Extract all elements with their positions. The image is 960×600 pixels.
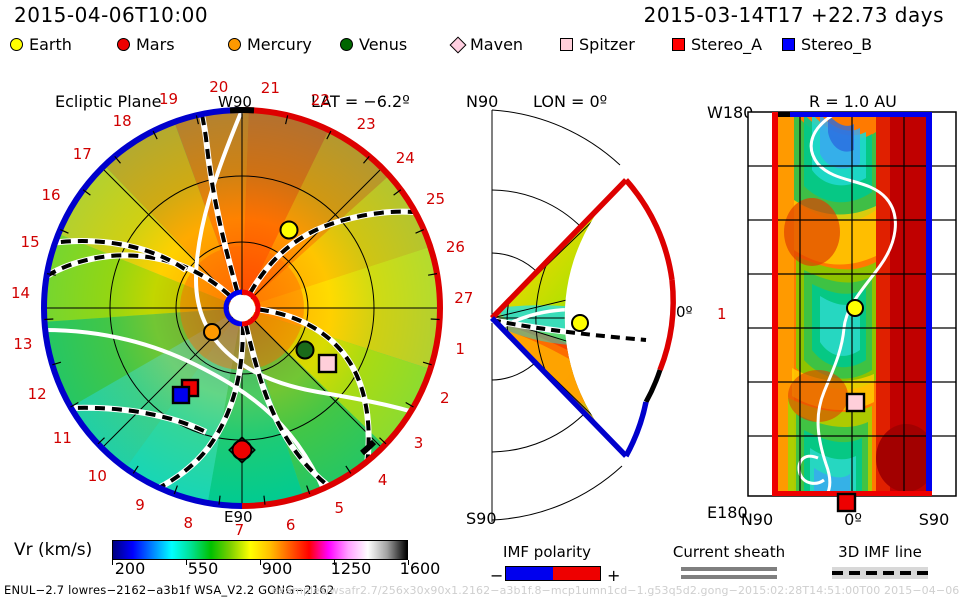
imf-polarity-minus: − <box>490 566 503 585</box>
synoptic-map-plot <box>700 80 960 520</box>
colorbar-tick-label: 900 <box>262 559 293 578</box>
stereo-b-marker <box>173 387 189 403</box>
imf-polarity-plus: + <box>607 566 620 585</box>
carrington-longitude-label: 23 <box>357 115 376 133</box>
sun-marker <box>226 292 258 324</box>
imf-polarity-legend-title: IMF polarity <box>503 543 591 561</box>
imf-polarity-negative <box>506 567 553 580</box>
legend-item-stereo-a: Stereo_A <box>672 35 762 54</box>
current-timestamp: 2015-04-06T10:00 <box>14 3 208 27</box>
carrington-longitude-label: 20 <box>209 78 228 96</box>
run-path-watermark: examples/wsafr2.7/256x30x90x1.2162−a3b1f… <box>272 584 959 597</box>
carrington-longitude-label: 22 <box>311 91 330 109</box>
mars-icon <box>117 38 130 51</box>
legend-label: Stereo_B <box>801 35 872 54</box>
spitzer-icon <box>560 38 573 51</box>
carrington-longitude-label: 9 <box>135 496 145 514</box>
stereo-a-marker-synoptic <box>838 494 855 511</box>
spitzer-marker-synoptic <box>847 394 864 411</box>
colorbar-title: Vr (km/s) <box>14 540 92 560</box>
carrington-longitude-label: 21 <box>261 79 280 97</box>
legend-item-earth: Earth <box>10 35 72 54</box>
maven-icon <box>450 36 467 53</box>
carrington-longitude-label: 19 <box>159 90 178 108</box>
body-legend: Earth Mars Mercury Venus Maven Spitzer S… <box>0 34 960 60</box>
carrington-longitude-label: 12 <box>28 385 47 403</box>
meridional-cut-plot <box>450 80 690 530</box>
carrington-longitude-label: 10 <box>88 467 107 485</box>
carrington-longitude-label: 8 <box>184 514 194 532</box>
legend-item-mars: Mars <box>117 35 175 54</box>
legend-label: Mercury <box>247 35 312 54</box>
colorbar-tick-label: 1250 <box>331 559 372 578</box>
carrington-longitude-label: 3 <box>414 434 424 452</box>
colorbar <box>112 540 408 560</box>
carrington-longitude-label: 6 <box>286 516 296 534</box>
legend-label: Earth <box>29 35 72 54</box>
colorbar-tick-label: 200 <box>115 559 146 578</box>
legend-label: Spitzer <box>579 35 635 54</box>
imf-line-swatch <box>832 567 928 579</box>
carrington-longitude-label: 15 <box>21 233 40 251</box>
current-sheath-swatch <box>681 567 777 580</box>
carrington-longitude-label: 5 <box>335 499 345 517</box>
carrington-longitude-label: 13 <box>13 335 32 353</box>
venus-marker <box>297 342 314 359</box>
carrington-longitude-label: 24 <box>396 149 415 167</box>
imf-polarity-positive <box>553 567 600 580</box>
stereo-a-icon <box>672 38 685 51</box>
imf-line-legend-title: 3D IMF line <box>838 543 922 561</box>
legend-item-venus: Venus <box>340 35 407 54</box>
current-sheath-legend-title: Current sheath <box>673 543 785 561</box>
venus-icon <box>340 38 353 51</box>
colorbar-tick-label: 550 <box>188 559 219 578</box>
carrington-longitude-label: 17 <box>73 145 92 163</box>
carrington-longitude-label: 18 <box>113 112 132 130</box>
plot-canvas: 2015-04-06T10:00 2015-03-14T17 +22.73 da… <box>0 0 960 600</box>
mercury-icon <box>228 38 241 51</box>
earth-marker-synoptic <box>847 300 863 316</box>
stereo-b-icon <box>782 38 795 51</box>
colorbar-tick <box>112 560 113 565</box>
run-start-timestamp: 2015-03-14T17 +22.73 days <box>644 3 944 27</box>
carrington-longitude-label: 16 <box>42 186 61 204</box>
carrington-longitude-label: 11 <box>53 429 72 447</box>
legend-label: Venus <box>359 35 407 54</box>
ecliptic-plane-plot <box>0 80 460 530</box>
spitzer-marker <box>319 355 336 372</box>
colorbar-tick-label: 1600 <box>400 559 441 578</box>
legend-label: Mars <box>136 35 175 54</box>
carrington-longitude-label: 2 <box>440 389 450 407</box>
colorbar-gradient <box>113 541 407 559</box>
rim-tick <box>431 319 440 320</box>
carrington-longitude-label: 25 <box>426 190 445 208</box>
legend-label: Maven <box>470 35 523 54</box>
rim-tick <box>44 319 53 320</box>
earth-marker <box>281 222 298 239</box>
legend-item-stereo-b: Stereo_B <box>782 35 872 54</box>
legend-item-spitzer: Spitzer <box>560 35 635 54</box>
carrington-longitude-label: 7 <box>235 521 245 539</box>
legend-item-mercury: Mercury <box>228 35 312 54</box>
earth-icon <box>10 38 23 51</box>
legend-label: Stereo_A <box>691 35 762 54</box>
legend-item-maven: Maven <box>452 35 523 54</box>
carrington-longitude-label: 14 <box>11 284 30 302</box>
mercury-marker <box>204 324 220 340</box>
earth-marker-meridional <box>572 315 588 331</box>
imf-polarity-bar <box>505 566 601 581</box>
carrington-longitude-label: 4 <box>378 471 388 489</box>
